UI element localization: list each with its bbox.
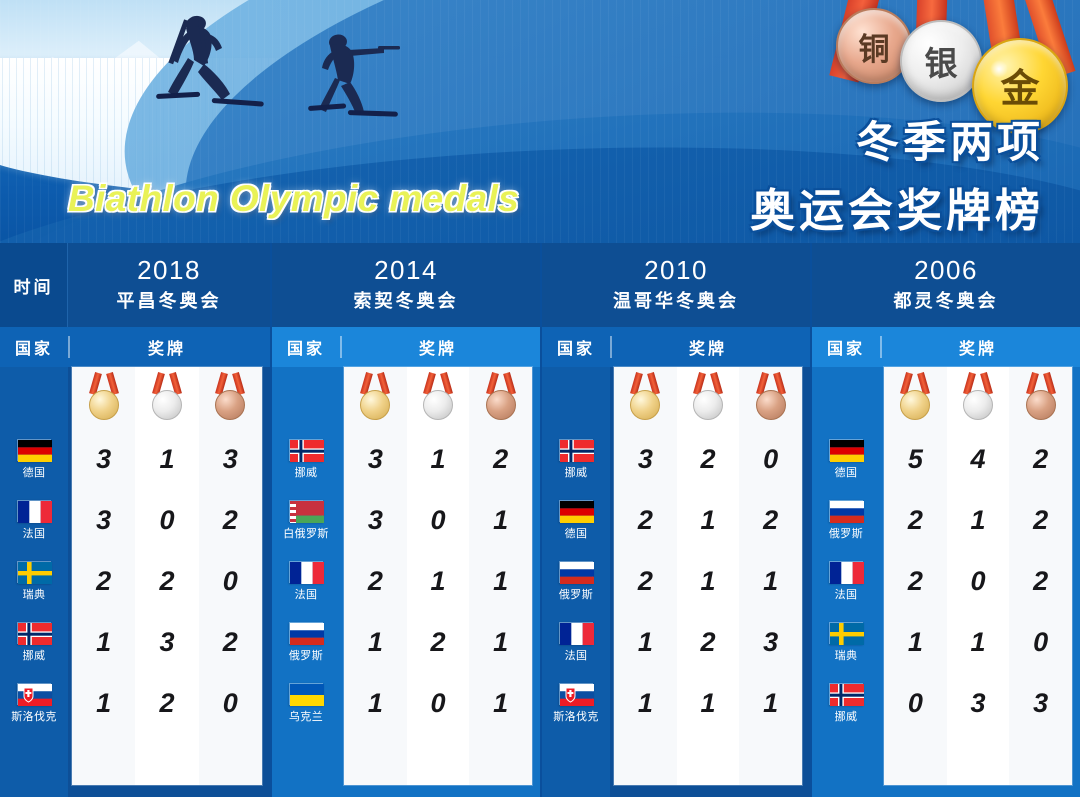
medal-column-head-bronze	[483, 367, 519, 429]
flag-slovakia-icon	[17, 683, 51, 705]
country-name: 法国	[565, 647, 588, 663]
games-year: 2014	[374, 257, 438, 284]
silver-medal-icon	[690, 373, 726, 425]
poster-root: 铜 银 金 Biathlon Olympic medals 冬季两项 奥运会奖牌…	[0, 0, 1080, 797]
flag-france-icon	[559, 622, 593, 644]
flag-norway-icon	[559, 439, 593, 461]
silver-medal-disc	[963, 390, 993, 420]
medal-count-cell: 1	[947, 490, 1010, 551]
flag-russia-icon	[829, 500, 863, 522]
medal-column-silver: 10120	[407, 367, 470, 785]
games-city: 都灵冬奥会	[894, 287, 999, 313]
panel-body-2010: 挪威 德国 俄罗斯 法国 斯洛伐克 32211 21121	[542, 367, 810, 797]
medal-count-cell: 2	[199, 612, 262, 673]
medal-count-cell: 1	[614, 612, 677, 673]
medal-count-cell: 0	[884, 673, 947, 734]
medal-count-cell: 1	[407, 429, 470, 490]
medal-count-cell: 2	[1009, 551, 1072, 612]
medal-count-cell: 2	[614, 551, 677, 612]
flag-france-icon	[17, 500, 51, 522]
country-cell[interactable]: 德国	[0, 429, 68, 490]
subheader-row-2010: 国家 奖牌	[542, 327, 810, 367]
medal-column-bronze: 02131	[739, 367, 802, 785]
country-cell[interactable]: 俄罗斯	[542, 551, 610, 612]
medal-count-cell: 0	[739, 429, 802, 490]
medal-count-cell: 3	[72, 490, 135, 551]
bronze-medal-icon	[212, 373, 248, 425]
medal-count-cell: 1	[344, 673, 407, 734]
medal-column-head-bronze	[753, 367, 789, 429]
medal-count-cell: 2	[1009, 490, 1072, 551]
flag-germany-icon	[17, 439, 51, 461]
medal-count-cell: 0	[947, 551, 1010, 612]
gold-medal-icon	[897, 373, 933, 425]
medal-count-cell: 1	[739, 673, 802, 734]
silver-medal-icon	[420, 373, 456, 425]
medal-column-head-bronze	[212, 367, 248, 429]
medal-count-cell: 3	[135, 612, 198, 673]
medal-table: 时间 2018 平昌冬奥会 国家 奖牌 德国 法国 瑞典 挪威 斯洛伐克 332…	[0, 243, 1080, 797]
gold-medal-disc	[630, 390, 660, 420]
country-cell[interactable]: 法国	[812, 551, 880, 612]
games-city: 温哥华冬奥会	[613, 287, 739, 313]
gold-medal-disc	[360, 390, 390, 420]
gold-medal-icon	[357, 373, 393, 425]
medal-column-header: 奖牌	[70, 335, 270, 359]
country-name: 挪威	[835, 708, 858, 724]
country-column-2006: 德国 俄罗斯 法国 瑞典 挪威	[812, 367, 880, 797]
medal-count-cell: 1	[677, 673, 740, 734]
medal-count-cell: 2	[677, 612, 740, 673]
medal-column-bronze: 21111	[469, 367, 532, 785]
medal-column-header: 奖牌	[612, 335, 810, 359]
games-year: 2018	[137, 257, 201, 284]
medal-count-cell: 1	[677, 490, 740, 551]
gold-medal-disc	[900, 390, 930, 420]
medal-count-cell: 5	[884, 429, 947, 490]
medal-column-gold: 33211	[72, 367, 135, 785]
medal-count-cell: 0	[407, 490, 470, 551]
country-cell[interactable]: 法国	[0, 490, 68, 551]
games-header-2006: 2006 都灵冬奥会	[812, 243, 1080, 327]
subheader-row-2018: 国家 奖牌	[0, 327, 270, 367]
medal-column-head-silver	[149, 367, 185, 429]
flag-russia-icon	[289, 622, 323, 644]
games-year: 2010	[644, 257, 708, 284]
country-cell[interactable]: 德国	[812, 429, 880, 490]
medal-count-cell: 2	[1009, 429, 1072, 490]
country-name: 斯洛伐克	[553, 708, 599, 724]
medal-count-cell: 1	[72, 673, 135, 734]
medal-count-cell: 1	[407, 551, 470, 612]
country-cell[interactable]: 挪威	[272, 429, 340, 490]
flag-france-icon	[289, 561, 323, 583]
games-year: 2006	[914, 257, 978, 284]
medal-column-silver: 41013	[947, 367, 1010, 785]
bronze-medal-icon	[1023, 373, 1059, 425]
medal-count-cell: 2	[344, 551, 407, 612]
country-cell[interactable]: 法国	[272, 551, 340, 612]
country-cell[interactable]: 法国	[542, 612, 610, 673]
country-cell[interactable]: 白俄罗斯	[272, 490, 340, 551]
country-column-header: 国家	[0, 335, 68, 359]
medal-count-cell: 3	[344, 429, 407, 490]
country-name: 俄罗斯	[289, 647, 323, 663]
bronze-medal-label: 铜	[859, 24, 890, 69]
medal-count-cell: 1	[677, 551, 740, 612]
medal-count-cell: 2	[199, 490, 262, 551]
silver-medal-badge: 银	[900, 20, 982, 102]
medal-count-cell: 1	[469, 673, 532, 734]
flag-norway-icon	[829, 683, 863, 705]
country-name: 俄罗斯	[559, 586, 593, 602]
medal-count-cell: 2	[72, 551, 135, 612]
page-title-chinese: 冬季两项 奥运会奖牌榜	[750, 108, 1044, 239]
skier-silhouette-icon	[150, 8, 280, 118]
medal-count-cell: 1	[469, 490, 532, 551]
country-name: 斯洛伐克	[11, 708, 57, 724]
medal-count-cell: 1	[72, 612, 135, 673]
subheader-row-2014: 国家 奖牌	[272, 327, 540, 367]
medal-count-cell: 3	[1009, 673, 1072, 734]
flag-sweden-icon	[17, 561, 51, 583]
country-cell[interactable]: 俄罗斯	[812, 490, 880, 551]
medal-count-cell: 1	[947, 612, 1010, 673]
medal-grid-2010: 32211 21121 02131	[614, 367, 802, 785]
medal-count-cell: 3	[199, 429, 262, 490]
medal-column-head-silver	[960, 367, 996, 429]
medal-count-cell: 3	[72, 429, 135, 490]
medal-column-head-gold	[627, 367, 663, 429]
games-panel-2010: 2010 温哥华冬奥会 国家 奖牌 挪威 德国 俄罗斯 法国 斯洛伐克 3221…	[540, 243, 810, 797]
country-cell[interactable]: 斯洛伐克	[0, 673, 68, 734]
country-cell[interactable]: 俄罗斯	[272, 612, 340, 673]
medal-count-cell: 0	[135, 490, 198, 551]
silver-medal-disc	[423, 390, 453, 420]
bronze-medal-badge: 铜	[836, 8, 912, 84]
medal-count-cell: 3	[947, 673, 1010, 734]
country-cell[interactable]: 德国	[542, 490, 610, 551]
medal-column-head-gold	[86, 367, 122, 429]
medal-count-cell: 2	[614, 490, 677, 551]
sparkle-icon	[990, 60, 1008, 78]
country-cell[interactable]: 瑞典	[0, 551, 68, 612]
flag-ukraine-icon	[289, 683, 323, 705]
gold-medal-icon	[627, 373, 663, 425]
silver-medal-icon	[149, 373, 185, 425]
country-name: 俄罗斯	[829, 525, 863, 541]
medal-count-cell: 3	[614, 429, 677, 490]
flag-germany-icon	[559, 500, 593, 522]
medal-count-cell: 1	[469, 612, 532, 673]
flag-france-icon	[829, 561, 863, 583]
medal-grid-2006: 52210 41013 22203	[884, 367, 1072, 785]
medal-count-cell: 0	[199, 551, 262, 612]
panel-body-2018: 德国 法国 瑞典 挪威 斯洛伐克 33211 10232	[0, 367, 270, 797]
panel-body-2006: 德国 俄罗斯 法国 瑞典 挪威 52210 41013	[812, 367, 1080, 797]
country-column-header: 国家	[812, 335, 880, 359]
bronze-medal-disc	[486, 390, 516, 420]
country-cell[interactable]: 瑞典	[812, 612, 880, 673]
bronze-medal-disc	[1026, 390, 1056, 420]
country-column-header: 国家	[542, 335, 610, 359]
silver-medal-label: 银	[925, 37, 958, 85]
country-name: 挪威	[23, 647, 46, 663]
medal-count-cell: 1	[614, 673, 677, 734]
medal-column-head-silver	[690, 367, 726, 429]
games-panel-2018: 时间 2018 平昌冬奥会 国家 奖牌 德国 法国 瑞典 挪威 斯洛伐克 332…	[0, 243, 270, 797]
games-city: 索契冬奥会	[354, 287, 459, 313]
bronze-medal-disc	[215, 390, 245, 420]
medal-count-cell: 1	[344, 612, 407, 673]
medal-count-cell: 3	[739, 612, 802, 673]
games-panel-2006: 2006 都灵冬奥会 国家 奖牌 德国 俄罗斯 法国 瑞典 挪威 52210	[810, 243, 1080, 797]
country-column-2018: 德国 法国 瑞典 挪威 斯洛伐克	[0, 367, 68, 797]
games-panels: 时间 2018 平昌冬奥会 国家 奖牌 德国 法国 瑞典 挪威 斯洛伐克 332…	[0, 243, 1080, 797]
country-name: 白俄罗斯	[283, 525, 329, 541]
banner: 铜 银 金 Biathlon Olympic medals 冬季两项 奥运会奖牌…	[0, 0, 1080, 243]
country-cell[interactable]: 挪威	[0, 612, 68, 673]
medal-count-cell: 0	[1009, 612, 1072, 673]
country-name: 德国	[565, 525, 588, 541]
page-title-chinese-line2: 奥运会奖牌榜	[750, 174, 1044, 239]
medal-column-silver: 21121	[677, 367, 740, 785]
medal-grid-2018: 33211 10232 32020	[72, 367, 262, 785]
gold-medal-icon	[86, 373, 122, 425]
flag-norway-icon	[289, 439, 323, 461]
country-name: 德国	[835, 464, 858, 480]
country-name: 瑞典	[835, 647, 858, 663]
country-column-2010: 挪威 德国 俄罗斯 法国 斯洛伐克	[542, 367, 610, 797]
games-city: 平昌冬奥会	[117, 287, 222, 313]
medal-column-head-bronze	[1023, 367, 1059, 429]
medal-count-cell: 2	[884, 490, 947, 551]
medal-column-gold: 32211	[614, 367, 677, 785]
medal-count-cell: 0	[407, 673, 470, 734]
medal-column-bronze: 32020	[199, 367, 262, 785]
country-name: 挪威	[295, 464, 318, 480]
bronze-medal-icon	[753, 373, 789, 425]
medal-count-cell: 1	[739, 551, 802, 612]
country-name: 法国	[835, 586, 858, 602]
panel-body-2014: 挪威 白俄罗斯 法国 俄罗斯 乌克兰 33211 10120	[272, 367, 540, 797]
country-name: 乌克兰	[289, 708, 323, 724]
games-header-2010: 2010 温哥华冬奥会	[542, 243, 810, 327]
country-name: 法国	[295, 586, 318, 602]
medal-count-cell: 0	[199, 673, 262, 734]
medal-count-cell: 1	[469, 551, 532, 612]
flag-belarus-icon	[289, 500, 323, 522]
bronze-medal-disc	[756, 390, 786, 420]
medal-count-cell: 2	[884, 551, 947, 612]
flag-slovakia-icon	[559, 683, 593, 705]
silver-medal-disc	[693, 390, 723, 420]
games-header-2014: 2014 索契冬奥会	[272, 243, 540, 327]
country-name: 挪威	[565, 464, 588, 480]
medal-count-cell: 2	[135, 551, 198, 612]
flag-norway-icon	[17, 622, 51, 644]
page-title-english: Biathlon Olympic medals	[68, 178, 519, 220]
subheader-row-2006: 国家 奖牌	[812, 327, 1080, 367]
country-column-header: 国家	[272, 335, 340, 359]
medal-column-head-silver	[420, 367, 456, 429]
shooting-biathlete-icon	[308, 28, 418, 120]
country-name: 法国	[23, 525, 46, 541]
medal-column-silver: 10232	[135, 367, 198, 785]
time-header-label: 时间	[0, 243, 68, 327]
medal-column-bronze: 22203	[1009, 367, 1072, 785]
medal-count-cell: 2	[135, 673, 198, 734]
medal-column-gold: 33211	[344, 367, 407, 785]
country-name: 德国	[23, 464, 46, 480]
country-name: 瑞典	[23, 586, 46, 602]
medal-count-cell: 2	[739, 490, 802, 551]
country-cell[interactable]: 挪威	[542, 429, 610, 490]
medal-column-header: 奖牌	[342, 335, 540, 359]
medal-column-head-gold	[357, 367, 393, 429]
country-column-2014: 挪威 白俄罗斯 法国 俄罗斯 乌克兰	[272, 367, 340, 797]
medal-grid-2014: 33211 10120 21111	[344, 367, 532, 785]
page-title-chinese-line1: 冬季两项	[750, 108, 1044, 170]
flag-russia-icon	[559, 561, 593, 583]
flag-germany-icon	[829, 439, 863, 461]
medal-count-cell: 3	[344, 490, 407, 551]
medal-count-cell: 4	[947, 429, 1010, 490]
medal-count-cell: 1	[135, 429, 198, 490]
flag-sweden-icon	[829, 622, 863, 644]
medal-column-header: 奖牌	[882, 335, 1080, 359]
medal-count-cell: 1	[884, 612, 947, 673]
country-cell[interactable]: 挪威	[812, 673, 880, 734]
silver-medal-disc	[152, 390, 182, 420]
gold-medal-disc	[89, 390, 119, 420]
country-cell[interactable]: 乌克兰	[272, 673, 340, 734]
games-panel-2014: 2014 索契冬奥会 国家 奖牌 挪威 白俄罗斯 法国 俄罗斯 乌克兰 3321…	[270, 243, 540, 797]
medal-column-head-gold	[897, 367, 933, 429]
medal-count-cell: 2	[407, 612, 470, 673]
silver-medal-icon	[960, 373, 996, 425]
bronze-medal-icon	[483, 373, 519, 425]
medal-column-gold: 52210	[884, 367, 947, 785]
medal-count-cell: 2	[677, 429, 740, 490]
country-cell[interactable]: 斯洛伐克	[542, 673, 610, 734]
medal-count-cell: 2	[469, 429, 532, 490]
